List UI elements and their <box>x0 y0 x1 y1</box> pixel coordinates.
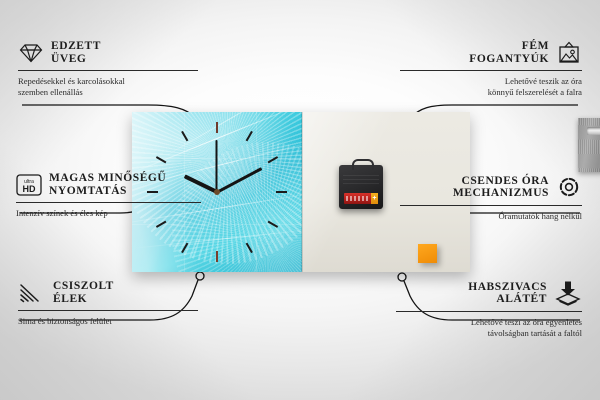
mechanism-hook <box>352 159 374 170</box>
clock-tick <box>216 251 218 262</box>
metal-hanger-plate <box>578 118 600 172</box>
divider <box>400 205 582 206</box>
ultra-hd-icon: ultra HD <box>16 173 42 197</box>
svg-text:HD: HD <box>23 184 36 194</box>
divider <box>396 311 582 312</box>
callout-hd-print: ultra HD MAGAS MINŐSÉGŰ NYOMTATÁS Intenz… <box>16 172 201 219</box>
callout-title: HABSZIVACS ALÁTÉT <box>468 281 547 306</box>
clock-tick <box>246 243 253 254</box>
callout-subtitle: Lehetővé teszi az óra egyenletes távolsá… <box>396 317 582 338</box>
clock-tick <box>181 131 188 142</box>
callout-title: FÉM FOGANTYÚK <box>469 40 549 65</box>
callout-subtitle: Repedésekkel és karcolásokkal szemben el… <box>18 76 198 97</box>
callout-subtitle: Óramutatók hang nélkül <box>400 211 582 222</box>
callout-subtitle: Intenzív színek és éles kép <box>16 208 201 219</box>
clock-tick <box>181 243 188 254</box>
foam-pad <box>418 244 437 263</box>
clock-tick <box>156 156 167 163</box>
clock-tick <box>268 156 279 163</box>
second-hand <box>216 140 218 192</box>
callout-silent-mechanism: CSENDES ÓRA MECHANIZMUS Óramutatók hang … <box>400 174 582 222</box>
hanger-slot <box>587 127 600 135</box>
battery-plus-sign: + <box>372 195 376 202</box>
callout-title: EDZETT ÜVEG <box>51 40 101 65</box>
battery: + <box>344 193 378 204</box>
callout-foam-pad: HABSZIVACS ALÁTÉT Lehetővé teszi az óra … <box>396 280 582 338</box>
callout-tempered-glass: EDZETT ÜVEG Repedésekkel és karcolásokka… <box>18 40 198 97</box>
clock-tick <box>216 122 218 133</box>
divider <box>18 310 198 311</box>
divider <box>16 202 201 203</box>
mechanism-grooves <box>343 175 379 187</box>
callout-title: CSISZOLT ÉLEK <box>53 280 114 305</box>
clock-center-pin <box>214 189 220 195</box>
callout-subtitle: Sima és biztonságos felület <box>18 316 198 327</box>
picture-hanger-icon <box>556 41 582 65</box>
minute-hand <box>216 167 262 193</box>
clock-mechanism: + <box>339 165 383 209</box>
clock-tick <box>156 221 167 228</box>
callout-title: MAGAS MINŐSÉGŰ NYOMTATÁS <box>49 172 166 197</box>
callout-metal-handles: FÉM FOGANTYÚK Lehetővé teszik az óra kön… <box>400 40 582 97</box>
infographic-canvas: + EDZETT ÜVEG Repedésekkel és karcolások… <box>0 0 600 400</box>
callout-subtitle: Lehetővé teszik az óra könnyű felszerelé… <box>400 76 582 97</box>
diamond-icon <box>18 42 44 64</box>
clock-tick <box>276 191 287 193</box>
callout-title: CSENDES ÓRA MECHANIZMUS <box>453 175 549 200</box>
polished-edge-icon <box>18 282 46 304</box>
callout-polished-edges: CSISZOLT ÉLEK Sima és biztonságos felüle… <box>18 280 198 327</box>
divider <box>400 70 582 71</box>
panel-seam <box>301 112 303 272</box>
battery-label <box>346 196 368 201</box>
clock-tick <box>268 221 279 228</box>
gear-icon <box>556 174 582 200</box>
clock-tick <box>246 131 253 142</box>
divider <box>18 70 198 71</box>
foam-pad-icon <box>554 280 582 306</box>
